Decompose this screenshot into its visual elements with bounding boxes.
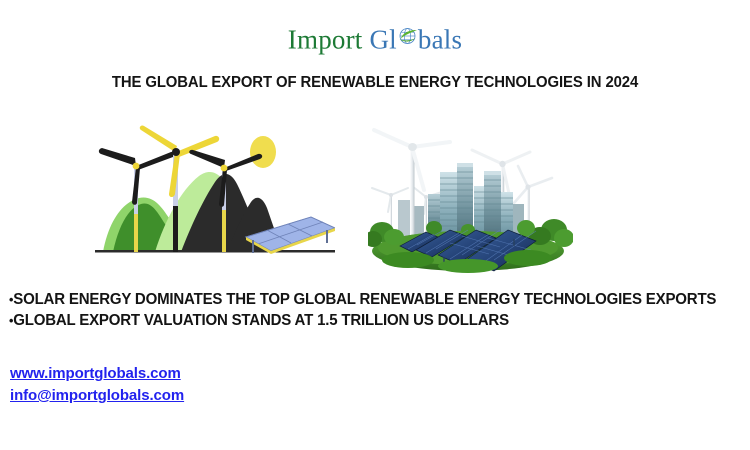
illustration-band <box>0 108 750 273</box>
email-link[interactable]: info@importglobals.com <box>10 385 184 407</box>
bullet-text: GLOBAL EXPORT VALUATION STANDS AT 1.5 TR… <box>13 312 509 329</box>
sun-icon <box>250 136 276 168</box>
logo-text-gl: Gl <box>369 24 396 54</box>
photoreal-green-city-render <box>368 108 573 273</box>
logo-text-bals: bals <box>418 24 462 54</box>
list-item: •SOLAR ENERGY DOMINATES THE TOP GLOBAL R… <box>9 289 723 310</box>
page-title: THE GLOBAL EXPORT OF RENEWABLE ENERGY TE… <box>15 74 735 92</box>
bullet-list: •SOLAR ENERGY DOMINATES THE TOP GLOBAL R… <box>9 289 745 331</box>
globe-leaf-icon <box>397 26 418 47</box>
contact-links: www.importglobals.com info@importglobals… <box>10 363 184 407</box>
flat-renewable-landscape-illustration <box>95 110 335 270</box>
ground-line <box>95 250 335 253</box>
list-item: •GLOBAL EXPORT VALUATION STANDS AT 1.5 T… <box>9 310 723 331</box>
website-link[interactable]: www.importglobals.com <box>10 363 184 385</box>
brand-logo[interactable]: ImportGl bals <box>0 26 750 53</box>
bullet-text: SOLAR ENERGY DOMINATES THE TOP GLOBAL RE… <box>13 291 716 308</box>
logo-text-import: Import <box>288 24 363 54</box>
